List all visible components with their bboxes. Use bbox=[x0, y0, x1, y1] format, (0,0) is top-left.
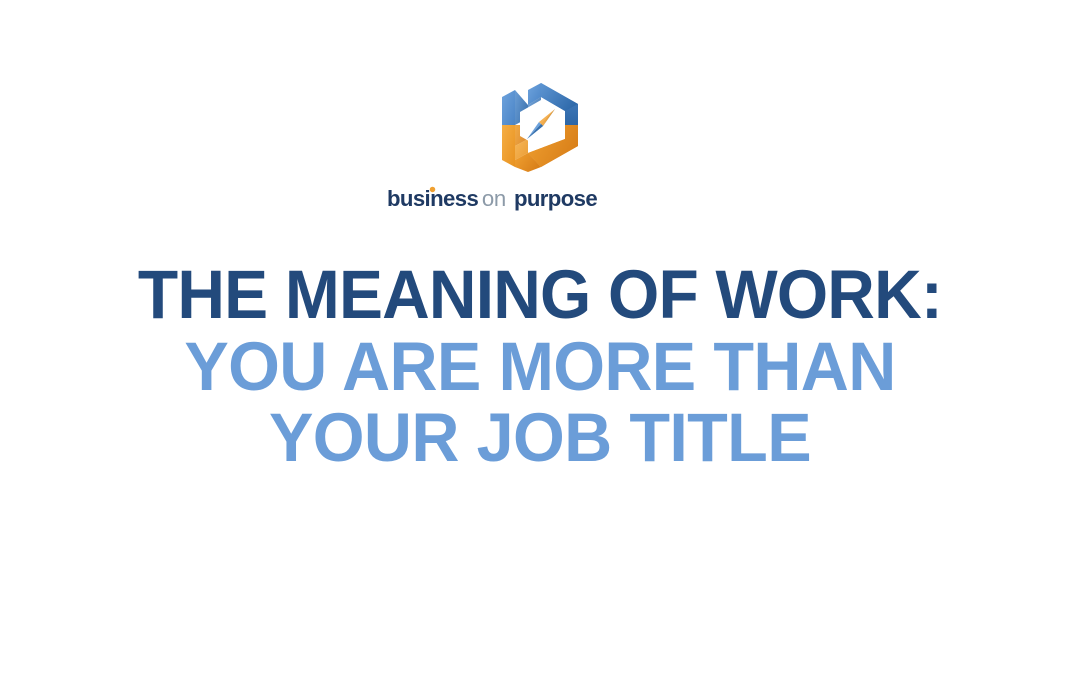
wordmark-text-purpose: purpose bbox=[514, 186, 597, 211]
business-on-purpose-logo-icon bbox=[498, 78, 582, 172]
wordmark-i-dot-icon bbox=[430, 187, 436, 193]
headline-line-2: YOU ARE MORE THAN bbox=[19, 334, 1061, 400]
headline-line-3: YOUR JOB TITLE bbox=[19, 405, 1061, 471]
page-title: THE MEANING OF WORK: YOU ARE MORE THAN Y… bbox=[0, 262, 1080, 471]
title-card: business on purpose THE MEANING OF WORK:… bbox=[0, 0, 1080, 675]
business-on-purpose-wordmark: business on purpose bbox=[387, 186, 693, 212]
headline-line-1: THE MEANING OF WORK: bbox=[24, 262, 1055, 328]
wordmark-text-on: on bbox=[482, 186, 506, 211]
brand-lockup: business on purpose bbox=[0, 78, 1080, 212]
